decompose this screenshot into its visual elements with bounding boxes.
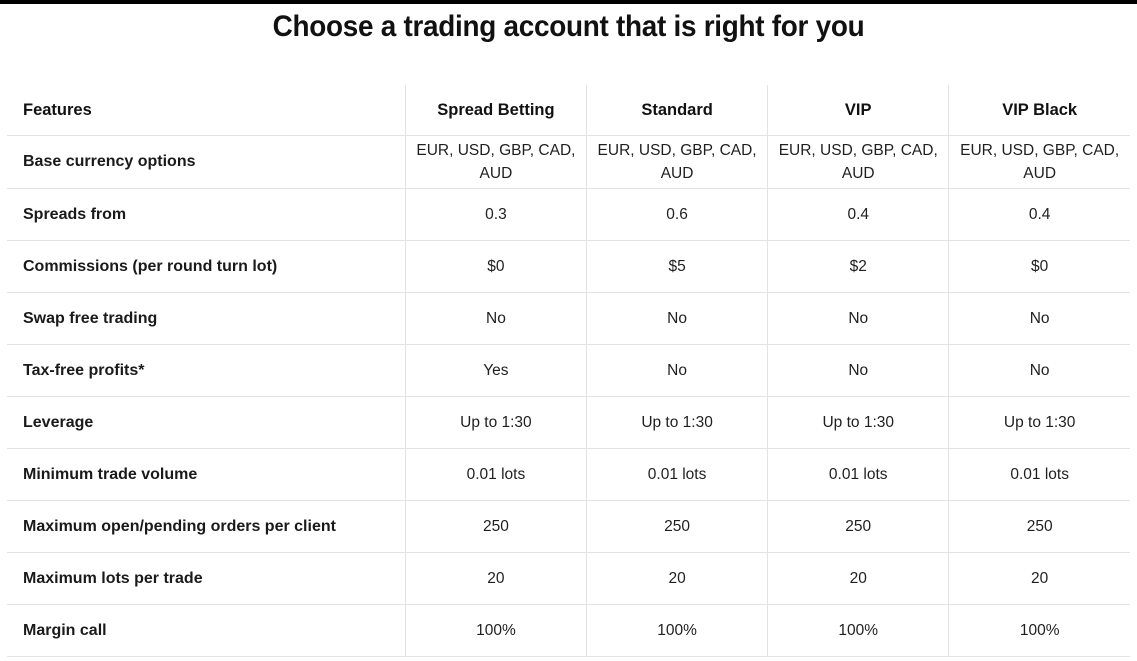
page-title: Choose a trading account that is right f… bbox=[40, 7, 1097, 47]
column-header-vip: VIP bbox=[768, 85, 949, 136]
cell-margin-call-spread-betting: 100% bbox=[405, 605, 586, 657]
row-label-margin-call: Margin call bbox=[7, 605, 405, 657]
cell-maximum-open-pending-orders-standard: 250 bbox=[587, 501, 768, 553]
cell-leverage-standard: Up to 1:30 bbox=[587, 397, 768, 449]
cell-commissions-spread-betting: $0 bbox=[405, 241, 586, 293]
cell-maximum-open-pending-orders-vip: 250 bbox=[768, 501, 949, 553]
cell-margin-call-vip: 100% bbox=[768, 605, 949, 657]
cell-minimum-trade-volume-vip: 0.01 lots bbox=[768, 449, 949, 501]
cell-margin-call-vip-black: 100% bbox=[949, 605, 1130, 657]
column-header-features: Features bbox=[7, 85, 405, 136]
cell-maximum-open-pending-orders-vip-black: 250 bbox=[949, 501, 1130, 553]
table-row: Minimum trade volume 0.01 lots 0.01 lots… bbox=[7, 449, 1130, 501]
cell-leverage-vip-black: Up to 1:30 bbox=[949, 397, 1130, 449]
row-label-minimum-trade-volume: Minimum trade volume bbox=[7, 449, 405, 501]
table-body: Base currency options EUR, USD, GBP, CAD… bbox=[7, 136, 1130, 657]
row-label-maximum-open-pending-orders: Maximum open/pending orders per client bbox=[7, 501, 405, 553]
cell-maximum-lots-per-trade-vip: 20 bbox=[768, 553, 949, 605]
table-row: Tax-free profits* Yes No No No bbox=[7, 345, 1130, 397]
row-label-commissions: Commissions (per round turn lot) bbox=[7, 241, 405, 293]
cell-tax-free-profits-vip-black: No bbox=[949, 345, 1130, 397]
cell-maximum-open-pending-orders-spread-betting: 250 bbox=[405, 501, 586, 553]
row-label-spreads-from: Spreads from bbox=[7, 189, 405, 241]
table-row: Maximum lots per trade 20 20 20 20 bbox=[7, 553, 1130, 605]
cell-spreads-from-spread-betting: 0.3 bbox=[405, 189, 586, 241]
cell-maximum-lots-per-trade-standard: 20 bbox=[587, 553, 768, 605]
cell-commissions-vip-black: $0 bbox=[949, 241, 1130, 293]
cell-swap-free-trading-vip: No bbox=[768, 293, 949, 345]
table-row: Margin call 100% 100% 100% 100% bbox=[7, 605, 1130, 657]
cell-base-currency-options-vip: EUR, USD, GBP, CAD, AUD bbox=[768, 136, 949, 189]
table-header-row: Features Spread Betting Standard VIP VIP… bbox=[7, 85, 1130, 136]
cell-tax-free-profits-vip: No bbox=[768, 345, 949, 397]
table-row: Base currency options EUR, USD, GBP, CAD… bbox=[7, 136, 1130, 189]
column-header-vip-black: VIP Black bbox=[949, 85, 1130, 136]
cell-base-currency-options-spread-betting: EUR, USD, GBP, CAD, AUD bbox=[405, 136, 586, 189]
comparison-table-container: Features Spread Betting Standard VIP VIP… bbox=[0, 85, 1137, 657]
cell-tax-free-profits-spread-betting: Yes bbox=[405, 345, 586, 397]
row-label-maximum-lots-per-trade: Maximum lots per trade bbox=[7, 553, 405, 605]
cell-minimum-trade-volume-spread-betting: 0.01 lots bbox=[405, 449, 586, 501]
cell-maximum-lots-per-trade-spread-betting: 20 bbox=[405, 553, 586, 605]
top-black-bar bbox=[0, 0, 1137, 4]
cell-leverage-spread-betting: Up to 1:30 bbox=[405, 397, 586, 449]
table-row: Leverage Up to 1:30 Up to 1:30 Up to 1:3… bbox=[7, 397, 1130, 449]
row-label-swap-free-trading: Swap free trading bbox=[7, 293, 405, 345]
cell-base-currency-options-vip-black: EUR, USD, GBP, CAD, AUD bbox=[949, 136, 1130, 189]
cell-base-currency-options-standard: EUR, USD, GBP, CAD, AUD bbox=[587, 136, 768, 189]
cell-swap-free-trading-vip-black: No bbox=[949, 293, 1130, 345]
cell-minimum-trade-volume-standard: 0.01 lots bbox=[587, 449, 768, 501]
cell-tax-free-profits-standard: No bbox=[587, 345, 768, 397]
cell-commissions-standard: $5 bbox=[587, 241, 768, 293]
row-label-tax-free-profits: Tax-free profits* bbox=[7, 345, 405, 397]
table-row: Spreads from 0.3 0.6 0.4 0.4 bbox=[7, 189, 1130, 241]
account-comparison-table: Features Spread Betting Standard VIP VIP… bbox=[7, 85, 1130, 657]
column-header-standard: Standard bbox=[587, 85, 768, 136]
table-row: Swap free trading No No No No bbox=[7, 293, 1130, 345]
cell-swap-free-trading-spread-betting: No bbox=[405, 293, 586, 345]
cell-margin-call-standard: 100% bbox=[587, 605, 768, 657]
cell-commissions-vip: $2 bbox=[768, 241, 949, 293]
row-label-base-currency-options: Base currency options bbox=[7, 136, 405, 189]
cell-swap-free-trading-standard: No bbox=[587, 293, 768, 345]
cell-spreads-from-vip-black: 0.4 bbox=[949, 189, 1130, 241]
table-header: Features Spread Betting Standard VIP VIP… bbox=[7, 85, 1130, 136]
table-row: Commissions (per round turn lot) $0 $5 $… bbox=[7, 241, 1130, 293]
table-row: Maximum open/pending orders per client 2… bbox=[7, 501, 1130, 553]
cell-maximum-lots-per-trade-vip-black: 20 bbox=[949, 553, 1130, 605]
cell-spreads-from-vip: 0.4 bbox=[768, 189, 949, 241]
row-label-leverage: Leverage bbox=[7, 397, 405, 449]
column-header-spread-betting: Spread Betting bbox=[405, 85, 586, 136]
cell-spreads-from-standard: 0.6 bbox=[587, 189, 768, 241]
cell-leverage-vip: Up to 1:30 bbox=[768, 397, 949, 449]
cell-minimum-trade-volume-vip-black: 0.01 lots bbox=[949, 449, 1130, 501]
